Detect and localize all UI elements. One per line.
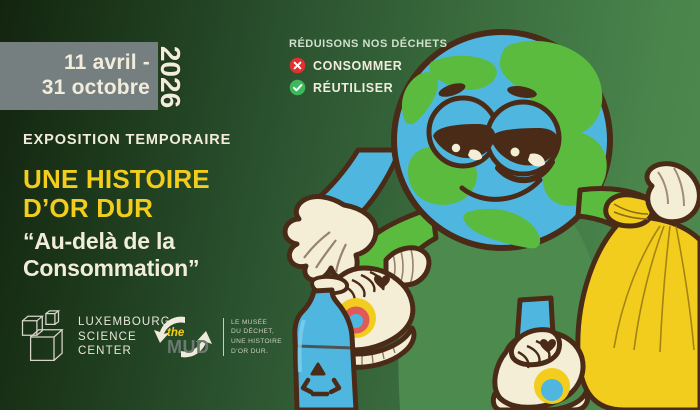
mud-tagline-line-2: DU DÉCHET, — [231, 327, 282, 337]
page-subtitle: “Au-delà de la Consommation” — [23, 228, 199, 282]
yellow-trash-bag — [578, 195, 700, 410]
mud-word: MUD — [167, 337, 210, 357]
title-line-2: D’OR DUR — [23, 194, 210, 223]
glove-hand-right — [647, 164, 699, 222]
recycle-arrows-icon: the MUD — [152, 312, 214, 362]
date-line-end: 31 octobre — [42, 76, 150, 101]
kicker-label: EXPOSITION TEMPORAIRE — [23, 132, 231, 148]
callout-item-consommer: CONSOMMER — [289, 57, 447, 74]
date-line-start: 11 avril - — [64, 51, 150, 76]
date-badge: 11 avril - 31 octobre — [0, 42, 158, 110]
luxembourg-science-center-logo: LUXEMBOURG SCIENCE CENTER — [18, 310, 171, 364]
mud-tagline-line-3: UNE HISTOIRE — [231, 337, 282, 347]
callout-heading: RÉDUISONS NOS DÉCHETS — [289, 38, 447, 50]
callout-label-reutiliser: RÉUTILISER — [313, 81, 393, 95]
cross-circle-icon — [289, 57, 306, 74]
callout-label-consommer: CONSOMMER — [313, 59, 402, 73]
subtitle-line-1: “Au-delà de la — [23, 228, 199, 255]
cube-logo-icon — [18, 310, 72, 364]
check-circle-icon — [289, 79, 306, 96]
mud-tagline: LE MUSÉE DU DÉCHET, UNE HISTOIRE D’OR DU… — [223, 318, 282, 356]
year-label: 2026 — [150, 36, 190, 118]
subtitle-line-2: Consommation” — [23, 255, 199, 282]
the-mud-logo: the MUD LE MUSÉE DU DÉCHET, UNE HISTOIRE… — [152, 312, 282, 362]
exhibition-poster: 11 avril - 31 octobre 2026 EXPOSITION TE… — [0, 0, 700, 410]
mud-tagline-line-4: D’OR DUR. — [231, 347, 282, 357]
page-title: UNE HISTOIRE D’OR DUR — [23, 165, 210, 224]
callout-item-reutiliser: RÉUTILISER — [289, 79, 447, 96]
mud-tagline-line-1: LE MUSÉE — [231, 318, 282, 328]
title-line-1: UNE HISTOIRE — [23, 165, 210, 194]
reduce-waste-callout: RÉDUISONS NOS DÉCHETS CONSOMMER RÉUTILIS… — [289, 38, 447, 101]
year-text: 2026 — [154, 46, 186, 108]
